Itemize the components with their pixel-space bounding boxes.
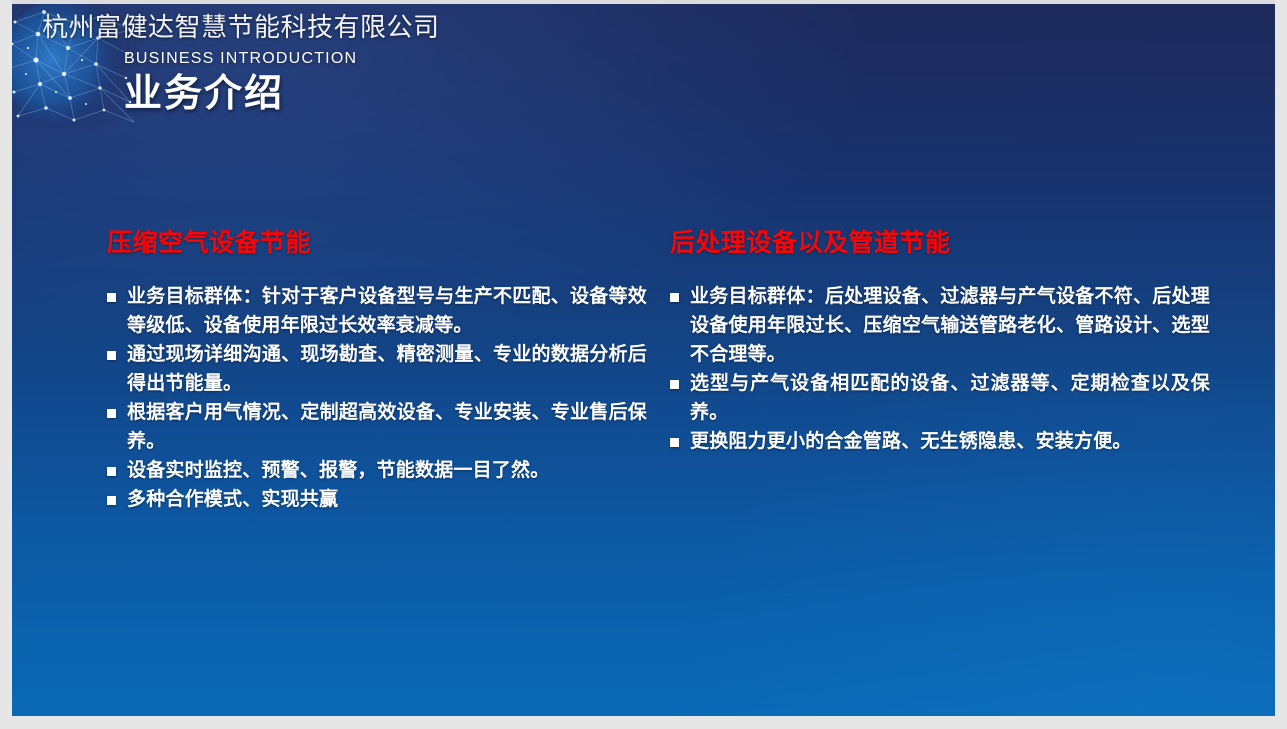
list-item-text: 多种合作模式、实现共赢 — [127, 488, 338, 510]
company-name: 杭州富健达智慧节能科技有限公司 — [42, 12, 742, 44]
list-item-text: 业务目标群体：后处理设备、过滤器与产气设备不符、后处理设备使用年限过长、压缩空气… — [690, 285, 1210, 365]
bullet-list-right: 业务目标群体：后处理设备、过滤器与产气设备不符、后处理设备使用年限过长、压缩空气… — [670, 282, 1210, 456]
list-item: 多种合作模式、实现共赢 — [107, 485, 647, 514]
slide-header: 杭州富健达智慧节能科技有限公司 BUSINESS INTRODUCTION 业务… — [42, 12, 742, 116]
square-bullet-icon — [107, 409, 116, 418]
page-frame-left — [0, 0, 12, 729]
section-heading-left: 压缩空气设备节能 — [107, 226, 647, 260]
list-item-text: 通过现场详细沟通、现场勘查、精密测量、专业的数据分析后得出节能量。 — [127, 343, 647, 394]
page-frame-right — [1275, 0, 1287, 729]
list-item-text: 根据客户用气情况、定制超高效设备、专业安装、专业售后保养。 — [127, 401, 647, 452]
list-item: 选型与产气设备相匹配的设备、过滤器等、定期检查以及保养。 — [670, 369, 1210, 427]
subtitle-english: BUSINESS INTRODUCTION — [124, 49, 742, 69]
square-bullet-icon — [107, 496, 116, 505]
list-item-text: 设备实时监控、预警、报警，节能数据一目了然。 — [127, 459, 549, 481]
content-column-right: 后处理设备以及管道节能 业务目标群体：后处理设备、过滤器与产气设备不符、后处理设… — [670, 226, 1210, 514]
list-item-text: 业务目标群体：针对于客户设备型号与生产不匹配、设备等效等级低、设备使用年限过长效… — [127, 285, 647, 336]
square-bullet-icon — [670, 380, 679, 389]
square-bullet-icon — [107, 351, 116, 360]
list-item: 通过现场详细沟通、现场勘查、精密测量、专业的数据分析后得出节能量。 — [107, 340, 647, 398]
page-frame-top — [0, 0, 1287, 4]
section-heading-right: 后处理设备以及管道节能 — [670, 226, 1210, 260]
list-item: 业务目标群体：针对于客户设备型号与生产不匹配、设备等效等级低、设备使用年限过长效… — [107, 282, 647, 340]
page-frame-bottom — [0, 716, 1287, 729]
page-title: 业务介绍 — [124, 70, 742, 116]
bullet-list-left: 业务目标群体：针对于客户设备型号与生产不匹配、设备等效等级低、设备使用年限过长效… — [107, 282, 647, 514]
list-item: 根据客户用气情况、定制超高效设备、专业安装、专业售后保养。 — [107, 398, 647, 456]
square-bullet-icon — [107, 467, 116, 476]
content-area: 压缩空气设备节能 业务目标群体：针对于客户设备型号与生产不匹配、设备等效等级低、… — [12, 226, 1275, 514]
list-item: 更换阻力更小的合金管路、无生锈隐患、安装方便。 — [670, 427, 1210, 456]
presentation-slide: 杭州富健达智慧节能科技有限公司 BUSINESS INTRODUCTION 业务… — [12, 4, 1275, 716]
list-item-text: 更换阻力更小的合金管路、无生锈隐患、安装方便。 — [690, 430, 1132, 452]
list-item: 业务目标群体：后处理设备、过滤器与产气设备不符、后处理设备使用年限过长、压缩空气… — [670, 282, 1210, 369]
square-bullet-icon — [670, 438, 679, 447]
content-column-left: 压缩空气设备节能 业务目标群体：针对于客户设备型号与生产不匹配、设备等效等级低、… — [107, 226, 647, 514]
square-bullet-icon — [107, 293, 116, 302]
list-item-text: 选型与产气设备相匹配的设备、过滤器等、定期检查以及保养。 — [690, 372, 1210, 423]
slide-viewport: 杭州富健达智慧节能科技有限公司 BUSINESS INTRODUCTION 业务… — [0, 0, 1287, 729]
list-item: 设备实时监控、预警、报警，节能数据一目了然。 — [107, 456, 647, 485]
square-bullet-icon — [670, 293, 679, 302]
